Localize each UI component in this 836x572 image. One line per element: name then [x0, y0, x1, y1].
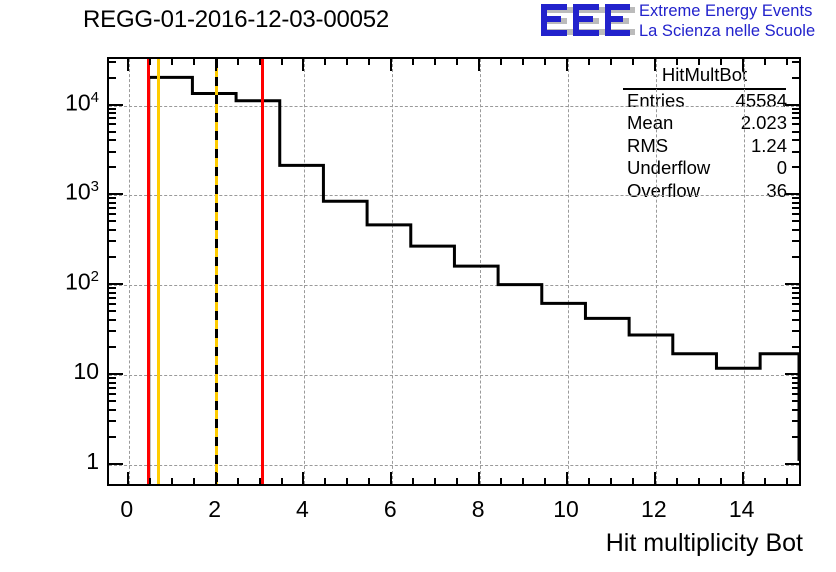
x-axis-tick-top — [237, 57, 239, 65]
y-axis-tick-right — [792, 292, 801, 294]
x-axis-tick — [654, 472, 656, 486]
x-axis-tick — [720, 478, 722, 486]
y-axis-tick-right — [792, 112, 801, 114]
marker-line-red-low-cut — [147, 59, 150, 484]
y-axis-tick — [107, 303, 116, 305]
y-axis-tick-right — [792, 151, 801, 153]
y-axis-tick-right — [792, 123, 801, 125]
x-axis-tick-top — [390, 57, 392, 71]
y-axis-tick — [107, 346, 116, 348]
y-axis-tick — [107, 283, 123, 285]
x-axis-tick — [676, 478, 678, 486]
y-axis-tick — [107, 377, 116, 379]
y-axis-tick-right — [792, 213, 801, 215]
y-axis-tick — [107, 409, 116, 411]
x-axis-tick-top — [742, 57, 744, 71]
y-axis-tick — [107, 139, 116, 141]
y-axis-tick — [107, 382, 116, 384]
x-axis-tick — [215, 472, 217, 486]
y-axis-tick-right — [792, 346, 801, 348]
plot-frame — [107, 57, 801, 486]
y-axis-tick-right — [792, 166, 801, 168]
x-axis-tick-top — [412, 57, 414, 65]
x-axis-tick — [500, 478, 502, 486]
y-axis-tick — [107, 436, 116, 438]
y-axis-tick — [107, 330, 116, 332]
y-axis-tick — [107, 287, 116, 289]
marker-line-dash-overlay — [215, 59, 218, 484]
x-axis-tick — [368, 478, 370, 486]
y-axis-tick-right — [792, 108, 801, 110]
x-axis-tick — [171, 478, 173, 486]
y-axis-tick — [107, 202, 116, 204]
x-axis-tick — [764, 478, 766, 486]
x-axis-tick — [127, 472, 129, 486]
x-axis-tick-top — [171, 57, 173, 65]
y-axis-tick — [107, 256, 116, 258]
y-axis-tick-right — [785, 373, 801, 375]
y-axis-tick-right — [792, 310, 801, 312]
x-axis-tick — [522, 478, 524, 486]
eee-logo: Extreme Energy Events La Scienza nelle S… — [539, 1, 835, 43]
eee-logo-line1: Extreme Energy Events — [639, 1, 836, 21]
y-axis-tick-right — [792, 436, 801, 438]
x-axis-tick — [237, 478, 239, 486]
x-axis-tick-top — [456, 57, 458, 65]
y-axis-tick-right — [792, 382, 801, 384]
x-axis-tick — [742, 472, 744, 486]
y-axis-tick — [107, 193, 123, 195]
x-axis-tick — [434, 478, 436, 486]
x-axis-title: Hit multiplicity Bot — [606, 529, 803, 558]
x-axis-tick-top — [500, 57, 502, 65]
y-axis-tick — [107, 297, 116, 299]
y-axis-tick-right — [792, 207, 801, 209]
y-axis-tick-right — [792, 297, 801, 299]
y-axis-tick — [107, 393, 116, 395]
marker-line-orange-low-cut — [157, 59, 160, 484]
x-axis-tick — [632, 478, 634, 486]
y-axis-tick — [107, 108, 116, 110]
x-axis-tick — [786, 478, 788, 486]
x-axis-tick-top — [302, 57, 304, 71]
y-axis-tick-right — [792, 303, 801, 305]
x-tick-label: 6 — [370, 496, 410, 523]
y-axis-tick-right — [785, 193, 801, 195]
y-axis-tick-right — [785, 104, 801, 106]
x-axis-tick — [412, 478, 414, 486]
y-axis-tick-right — [792, 319, 801, 321]
x-axis-tick-top — [127, 57, 129, 71]
y-axis-tick — [107, 220, 116, 222]
x-axis-tick-top — [566, 57, 568, 71]
x-axis-tick-top — [193, 57, 195, 65]
y-axis-tick-right — [792, 420, 801, 422]
x-tick-label: 4 — [282, 496, 322, 523]
y-axis-tick-right — [792, 387, 801, 389]
y-axis-tick — [107, 387, 116, 389]
page-title: REGG-01-2016-12-03-00052 — [83, 6, 389, 34]
x-axis-tick — [566, 472, 568, 486]
y-axis-tick-right — [792, 330, 801, 332]
x-tick-label: 10 — [546, 496, 586, 523]
eee-logo-line2: La Scienza nelle Scuole — [639, 21, 836, 41]
marker-line-red-high-cut — [261, 59, 264, 484]
y-axis-tick — [107, 123, 116, 125]
y-tick-label: 10 — [39, 358, 99, 385]
y-axis-tick-right — [792, 117, 801, 119]
y-axis-tick-right — [792, 139, 801, 141]
x-axis-tick-top — [698, 57, 700, 65]
y-axis-tick — [107, 420, 116, 422]
y-axis-tick — [107, 166, 116, 168]
x-axis-tick — [302, 472, 304, 486]
x-axis-tick — [259, 478, 261, 486]
y-axis-tick-right — [792, 229, 801, 231]
y-axis-tick — [107, 310, 116, 312]
y-axis-tick — [107, 240, 116, 242]
x-axis-tick-top — [281, 57, 283, 65]
x-axis-tick-top — [676, 57, 678, 65]
y-axis-tick — [107, 112, 116, 114]
x-axis-tick — [698, 478, 700, 486]
y-axis-tick-right — [792, 287, 801, 289]
x-axis-tick-top — [522, 57, 524, 65]
y-axis-tick — [107, 77, 116, 79]
plot-area — [109, 59, 799, 484]
x-axis-tick — [456, 478, 458, 486]
x-axis-tick-top — [434, 57, 436, 65]
x-axis-tick-top — [259, 57, 261, 65]
eee-logo-mark — [539, 3, 635, 39]
x-tick-label: 12 — [634, 496, 674, 523]
y-axis-tick — [107, 229, 116, 231]
y-axis-tick-right — [792, 77, 801, 79]
y-axis-tick — [107, 373, 123, 375]
y-axis-tick-right — [792, 61, 801, 63]
y-axis-tick — [107, 61, 116, 63]
y-axis-tick — [107, 400, 116, 402]
y-axis-tick-right — [792, 400, 801, 402]
x-axis-tick — [588, 478, 590, 486]
y-axis-tick — [107, 213, 116, 215]
y-axis-tick-right — [792, 256, 801, 258]
y-axis-tick-right — [792, 393, 801, 395]
y-tick-label: 1 — [39, 448, 99, 475]
x-axis-tick — [390, 472, 392, 486]
y-axis-tick — [107, 292, 116, 294]
x-axis-tick-top — [786, 57, 788, 65]
y-axis-tick-right — [792, 131, 801, 133]
x-axis-tick-top — [368, 57, 370, 65]
y-tick-label: 102 — [39, 268, 99, 296]
y-axis-tick-right — [785, 463, 801, 465]
x-axis-tick-top — [346, 57, 348, 65]
histogram-curve — [109, 59, 799, 484]
x-axis-tick-top — [632, 57, 634, 65]
x-axis-tick-top — [324, 57, 326, 65]
x-axis-tick — [193, 478, 195, 486]
x-axis-tick-top — [610, 57, 612, 65]
y-axis-tick-right — [792, 197, 801, 199]
y-axis-tick-right — [792, 202, 801, 204]
y-axis-tick — [107, 207, 116, 209]
x-axis-tick — [478, 472, 480, 486]
x-tick-label: 14 — [722, 496, 762, 523]
y-axis-tick-right — [792, 240, 801, 242]
y-tick-label: 104 — [39, 89, 99, 117]
x-tick-label: 0 — [107, 496, 147, 523]
y-tick-label: 103 — [39, 178, 99, 206]
x-axis-tick — [324, 478, 326, 486]
x-axis-tick-top — [764, 57, 766, 65]
x-axis-tick — [149, 478, 151, 486]
x-axis-tick — [544, 478, 546, 486]
x-axis-tick-top — [544, 57, 546, 65]
y-axis-tick — [107, 117, 116, 119]
y-axis-tick-right — [792, 377, 801, 379]
x-axis-tick — [346, 478, 348, 486]
y-axis-tick — [107, 197, 116, 199]
x-axis-tick-top — [720, 57, 722, 65]
y-axis-tick — [107, 151, 116, 153]
x-tick-label: 2 — [195, 496, 235, 523]
x-axis-tick-top — [588, 57, 590, 65]
x-tick-label: 8 — [458, 496, 498, 523]
x-axis-tick-top — [215, 57, 217, 71]
x-axis-tick-top — [149, 57, 151, 65]
x-axis-tick-top — [654, 57, 656, 71]
x-axis-tick — [281, 478, 283, 486]
y-axis-tick-right — [792, 220, 801, 222]
y-axis-tick — [107, 131, 116, 133]
x-axis-tick-top — [478, 57, 480, 71]
y-axis-tick — [107, 463, 123, 465]
x-axis-tick — [610, 478, 612, 486]
y-axis-tick-right — [785, 283, 801, 285]
y-axis-tick-right — [792, 409, 801, 411]
y-axis-tick — [107, 104, 123, 106]
y-axis-tick — [107, 319, 116, 321]
